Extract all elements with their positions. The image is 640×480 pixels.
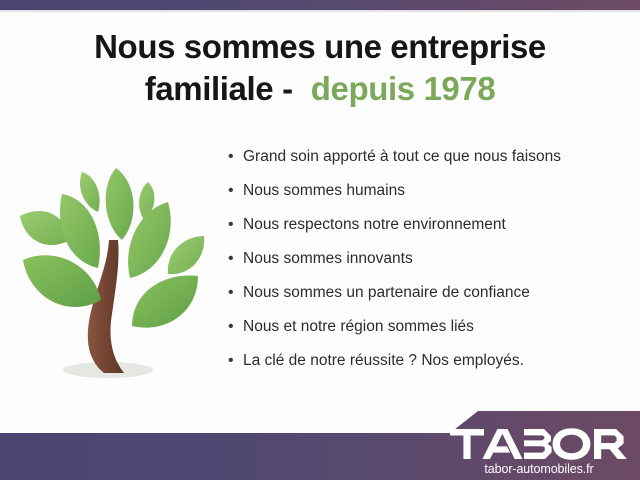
list-item: • Nous respectons notre environnement bbox=[228, 216, 628, 250]
tree-leaf bbox=[168, 236, 204, 274]
footer-brand-bar: tabor-automobiles.fr bbox=[0, 400, 640, 480]
list-item: • La clé de notre réussite ? Nos employé… bbox=[228, 352, 628, 386]
slide-canvas: Nous sommes une entreprise familiale-dep… bbox=[0, 0, 640, 480]
page-title-line-2-main: familiale bbox=[145, 70, 273, 107]
list-item-label: Nous et notre région sommes liés bbox=[243, 318, 474, 337]
page-title-accent: depuis 1978 bbox=[311, 70, 496, 107]
tabor-wordmark-icon bbox=[446, 427, 632, 461]
list-item: • Grand soin apporté à tout ce que nous … bbox=[228, 148, 628, 182]
brand-logo[interactable]: tabor-automobiles.fr bbox=[446, 427, 632, 476]
bullet-marker-icon: • bbox=[228, 285, 243, 301]
top-accent-bar-shadow bbox=[0, 10, 640, 13]
bullet-marker-icon: • bbox=[228, 251, 243, 267]
list-item: • Nous et notre région sommes liés bbox=[228, 318, 628, 352]
list-item-label: Nous sommes innovants bbox=[243, 250, 413, 269]
tree-leaf bbox=[132, 275, 198, 327]
top-accent-bar bbox=[0, 0, 640, 10]
page-title-line-1: Nous sommes une entreprise bbox=[0, 26, 640, 68]
bullet-marker-icon: • bbox=[228, 353, 243, 369]
list-item-label: Grand soin apporté à tout ce que nous fa… bbox=[243, 148, 561, 167]
bullet-marker-icon: • bbox=[228, 319, 243, 335]
page-title: Nous sommes une entreprise familiale-dep… bbox=[0, 26, 640, 109]
list-item-label: Nous sommes humains bbox=[243, 182, 405, 201]
list-item: • Nous sommes innovants bbox=[228, 250, 628, 284]
list-item-label: Nous respectons notre environnement bbox=[243, 216, 506, 235]
list-item: • Nous sommes un partenaire de confiance bbox=[228, 284, 628, 318]
family-tree-illustration bbox=[8, 148, 213, 388]
page-title-line-2: familiale-depuis 1978 bbox=[0, 68, 640, 110]
value-proposition-list: • Grand soin apporté à tout ce que nous … bbox=[228, 148, 628, 386]
bullet-marker-icon: • bbox=[228, 217, 243, 233]
tree-leaf bbox=[106, 168, 134, 240]
brand-tagline: tabor-automobiles.fr bbox=[446, 462, 632, 476]
tree-leaf bbox=[128, 202, 171, 278]
bullet-marker-icon: • bbox=[228, 149, 243, 165]
list-item-label: Nous sommes un partenaire de confiance bbox=[243, 284, 530, 303]
page-title-dash: - bbox=[282, 70, 293, 107]
bullet-marker-icon: • bbox=[228, 183, 243, 199]
list-item-label: La clé de notre réussite ? Nos employés. bbox=[243, 352, 524, 371]
list-item: • Nous sommes humains bbox=[228, 182, 628, 216]
